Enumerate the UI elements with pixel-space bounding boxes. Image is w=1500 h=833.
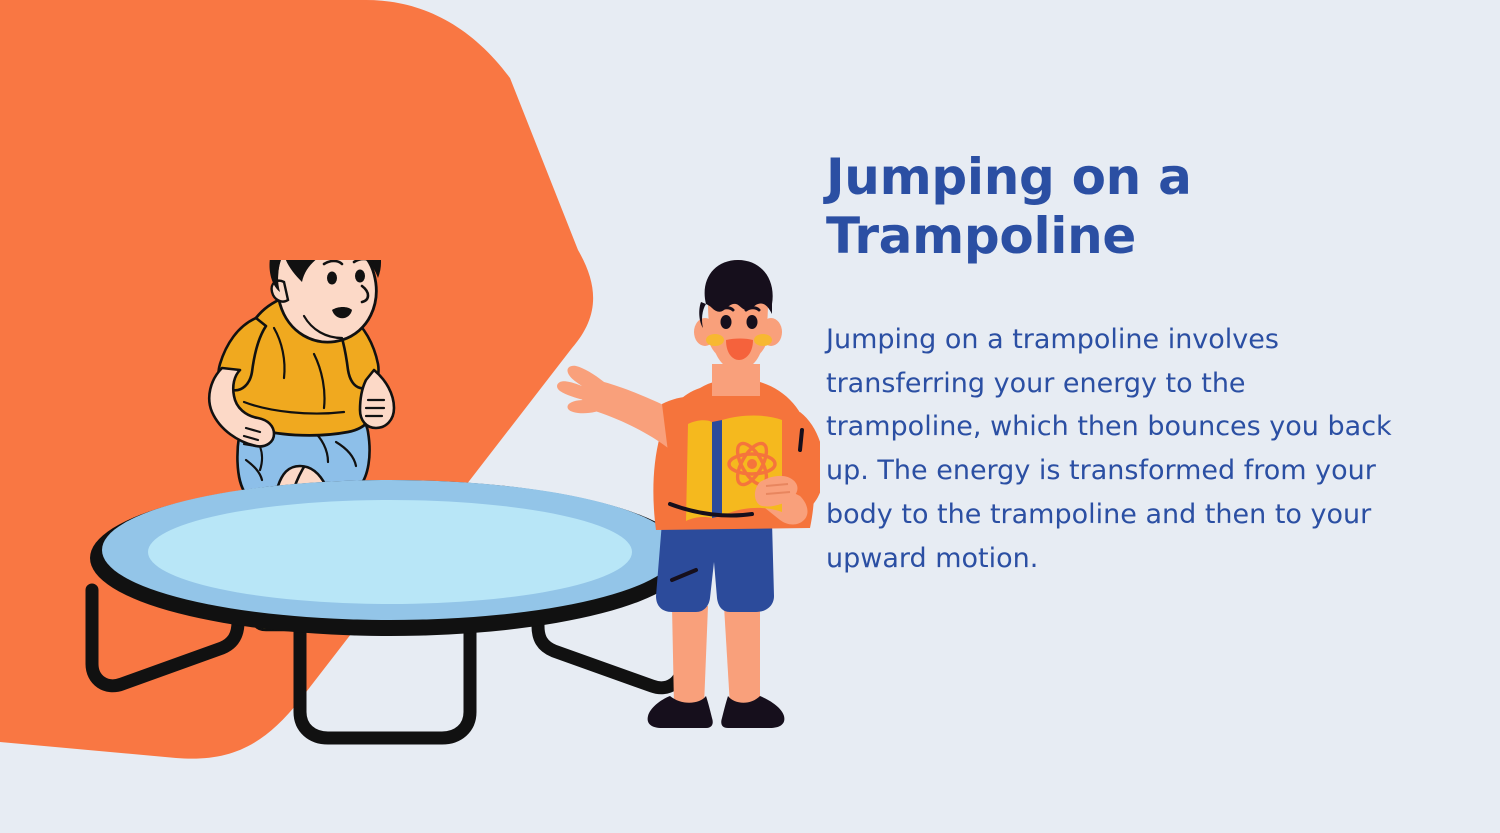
standing-boy-figure [557, 260, 820, 728]
trampoline [90, 480, 690, 738]
standing-eye-left [721, 315, 732, 329]
standing-left-leg [672, 606, 708, 706]
standing-cheek-left [706, 334, 724, 346]
standing-right-leg [724, 606, 760, 706]
standing-eye-right [747, 315, 758, 329]
text-column: Jumping on a Trampoline Jumping on a tra… [826, 148, 1406, 580]
slide-canvas: Jumping on a Trampoline Jumping on a tra… [0, 0, 1500, 833]
standing-cheek-right [754, 334, 772, 346]
jumper-eye-left [327, 272, 337, 285]
science-book [686, 416, 797, 522]
standing-shirt-side-line [800, 430, 802, 450]
body-paragraph: Jumping on a trampoline involves transfe… [826, 266, 1406, 580]
trampoline-mat [148, 500, 632, 604]
book-left-page [686, 420, 712, 521]
standing-raised-hand [557, 366, 606, 413]
standing-shorts [656, 522, 774, 612]
book-spine [712, 420, 722, 518]
jumper-eye-right [355, 270, 365, 283]
illustration-group [60, 260, 820, 780]
page-title: Jumping on a Trampoline [826, 148, 1406, 266]
